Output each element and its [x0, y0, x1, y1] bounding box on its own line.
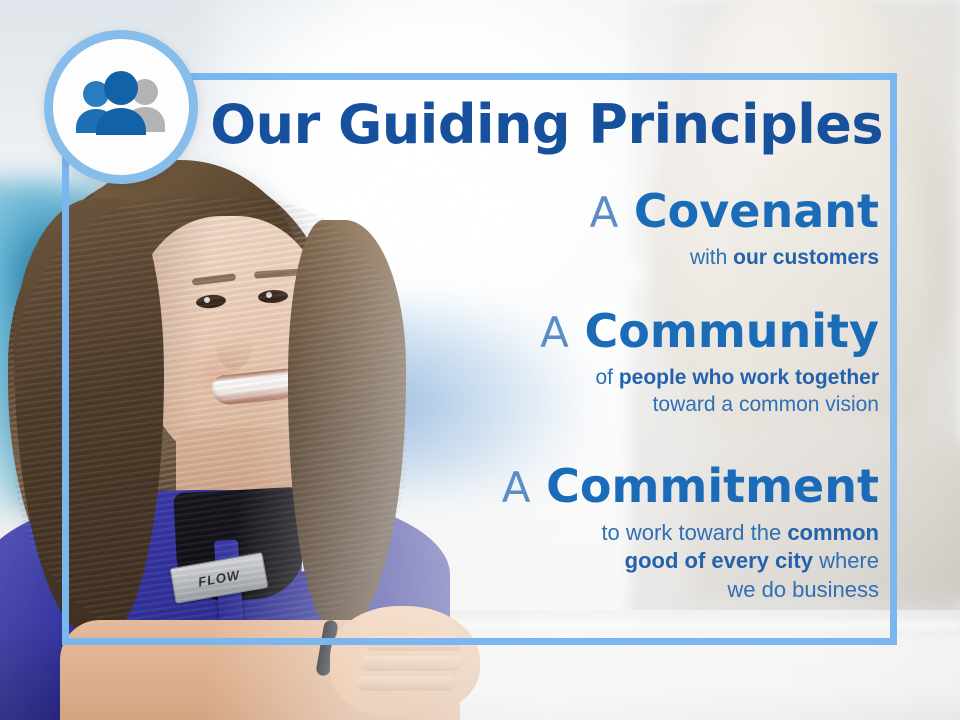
- subtext-line: with our customers: [62, 244, 879, 271]
- finger: [360, 656, 462, 671]
- subtext-emphasis: common: [787, 520, 879, 545]
- principle-commitment: A Commitment to work toward the commongo…: [62, 463, 879, 605]
- subtext-emphasis: our customers: [733, 246, 879, 269]
- principle-headline: A Commitment: [62, 463, 879, 511]
- article: A: [590, 188, 620, 237]
- subtext-run: we do business: [727, 577, 879, 602]
- keyword: Commitment: [546, 459, 879, 513]
- subtext-emphasis: good of every city: [625, 548, 813, 573]
- subtext-line: we do business: [62, 576, 879, 605]
- subtext-line: toward a common vision: [62, 391, 879, 418]
- subtext-run: with: [690, 246, 733, 269]
- principle-subtext: with our customers: [62, 244, 879, 271]
- article: A: [540, 308, 570, 357]
- article: A: [502, 463, 532, 512]
- guiding-principles-graphic: FLOW FLOW: [0, 0, 960, 720]
- principle-subtext: of people who work togethertoward a comm…: [62, 364, 879, 419]
- principle-covenant: A Covenant with our customers: [62, 188, 879, 271]
- text-content: Our Guiding Principles A Covenant with o…: [62, 73, 897, 645]
- subtext-run: where: [813, 548, 879, 573]
- keyword: Covenant: [634, 184, 879, 238]
- subtext-run: of: [595, 366, 618, 389]
- finger: [356, 676, 456, 691]
- page-title: Our Guiding Principles: [62, 98, 883, 152]
- subtext-line: good of every city where: [62, 547, 879, 576]
- principle-headline: A Covenant: [62, 188, 879, 236]
- principle-community: A Community of people who work togethert…: [62, 308, 879, 418]
- subtext-emphasis: people who work together: [619, 366, 879, 389]
- principle-headline: A Community: [62, 308, 879, 356]
- subtext-line: of people who work together: [62, 364, 879, 391]
- subtext-run: toward a common vision: [653, 393, 879, 416]
- subtext-line: to work toward the common: [62, 519, 879, 548]
- keyword: Community: [585, 304, 879, 358]
- principle-subtext: to work toward the commongood of every c…: [62, 519, 879, 605]
- subtext-run: to work toward the: [601, 520, 787, 545]
